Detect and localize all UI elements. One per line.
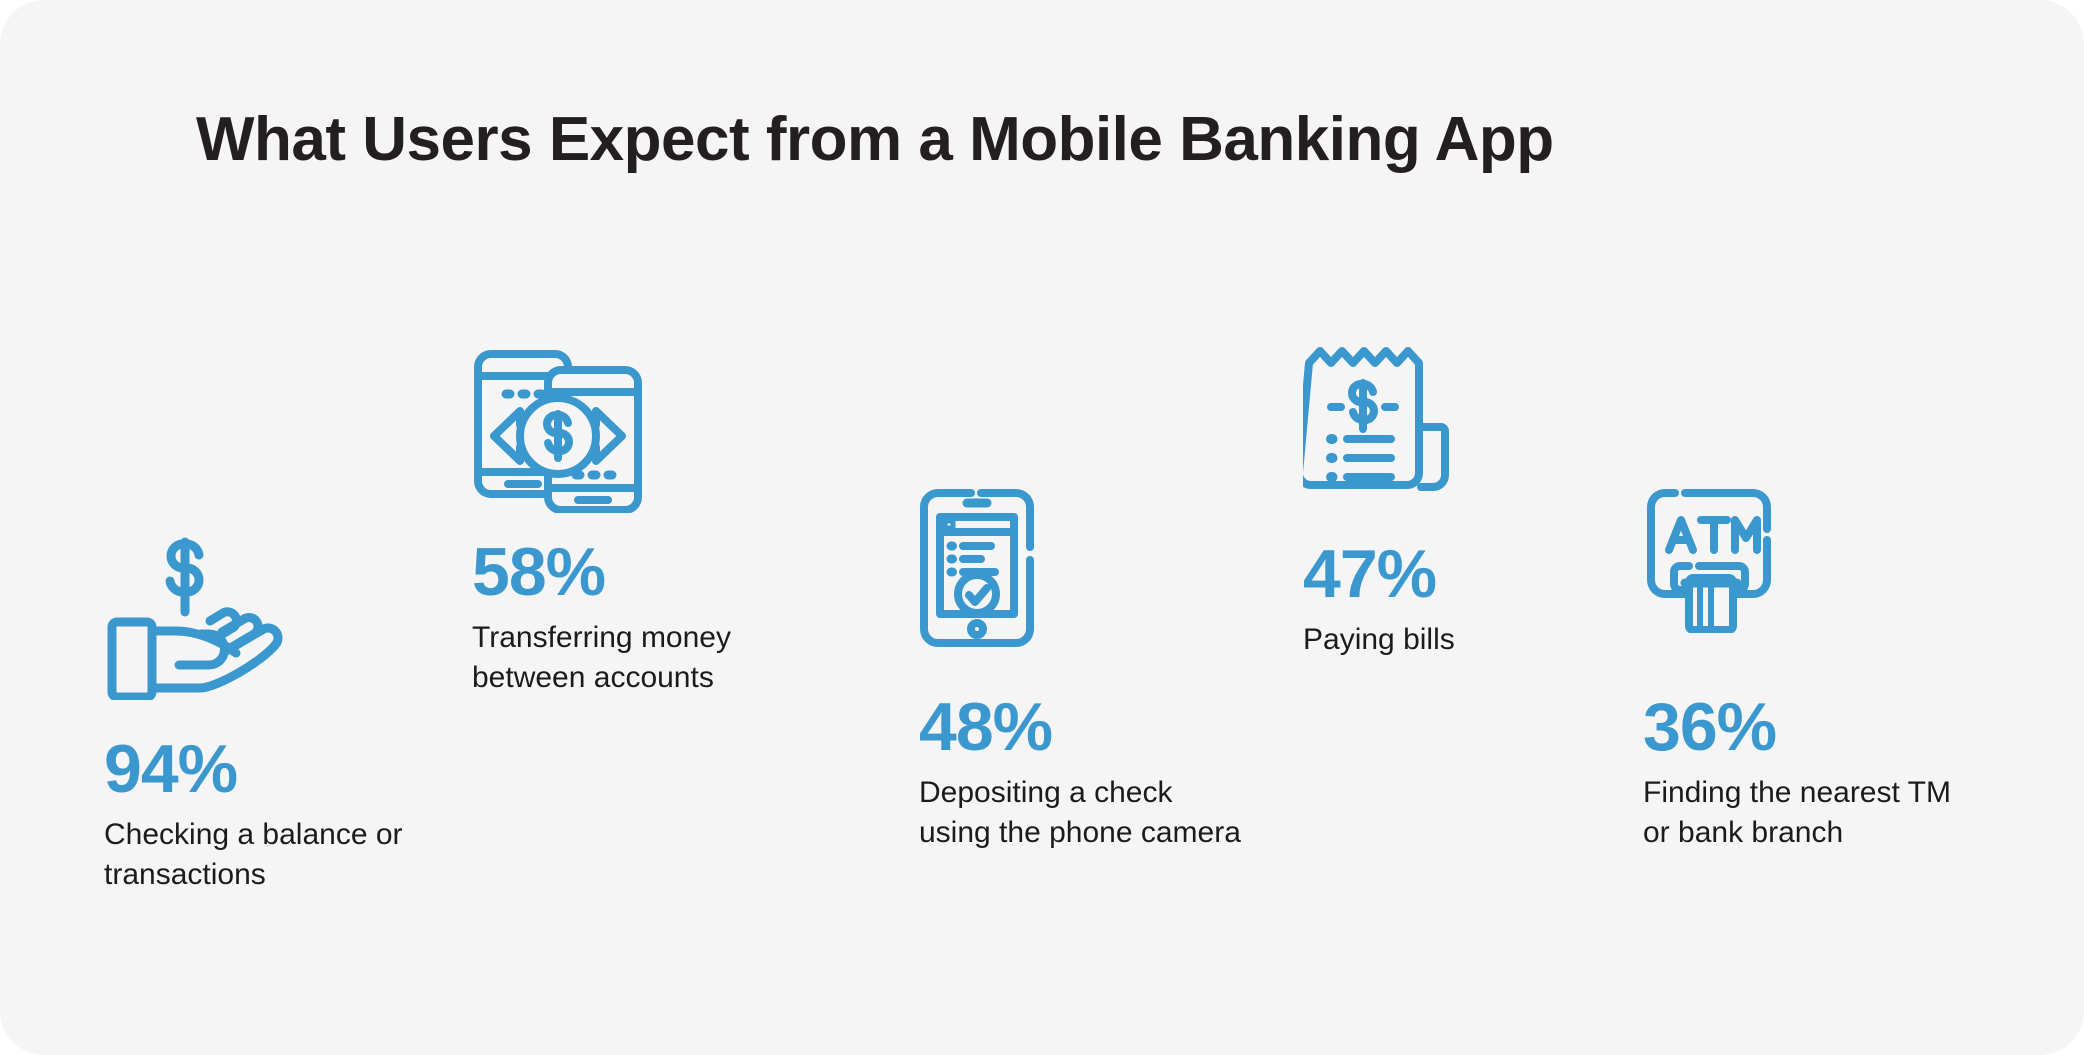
stat-percent: 36%: [1643, 688, 1776, 766]
stat-label: Checking a balance or transactions: [104, 815, 434, 895]
stat-label: Depositing a check using the phone camer…: [919, 773, 1249, 853]
stat-percent: 48%: [919, 688, 1052, 766]
phone-transfer-icon: [472, 348, 644, 513]
page-title: What Users Expect from a Mobile Banking …: [196, 104, 1554, 175]
stat-percent: 58%: [472, 533, 605, 611]
stat-percent: 94%: [104, 730, 237, 808]
atm-machine-icon: [1643, 488, 1775, 633]
stat-label: Finding the nearest TM or bank branch: [1643, 773, 1973, 853]
stat-label: Transferring money between accounts: [472, 618, 802, 698]
stat-percent: 47%: [1303, 535, 1436, 613]
infographic-poster: What Users Expect from a Mobile Banking …: [0, 0, 2084, 1055]
receipt-bill-icon: [1303, 345, 1453, 500]
phone-check-deposit-icon: [919, 488, 1035, 648]
stat-label: Paying bills: [1303, 620, 1633, 660]
hand-holding-dollar-icon: [104, 530, 284, 700]
